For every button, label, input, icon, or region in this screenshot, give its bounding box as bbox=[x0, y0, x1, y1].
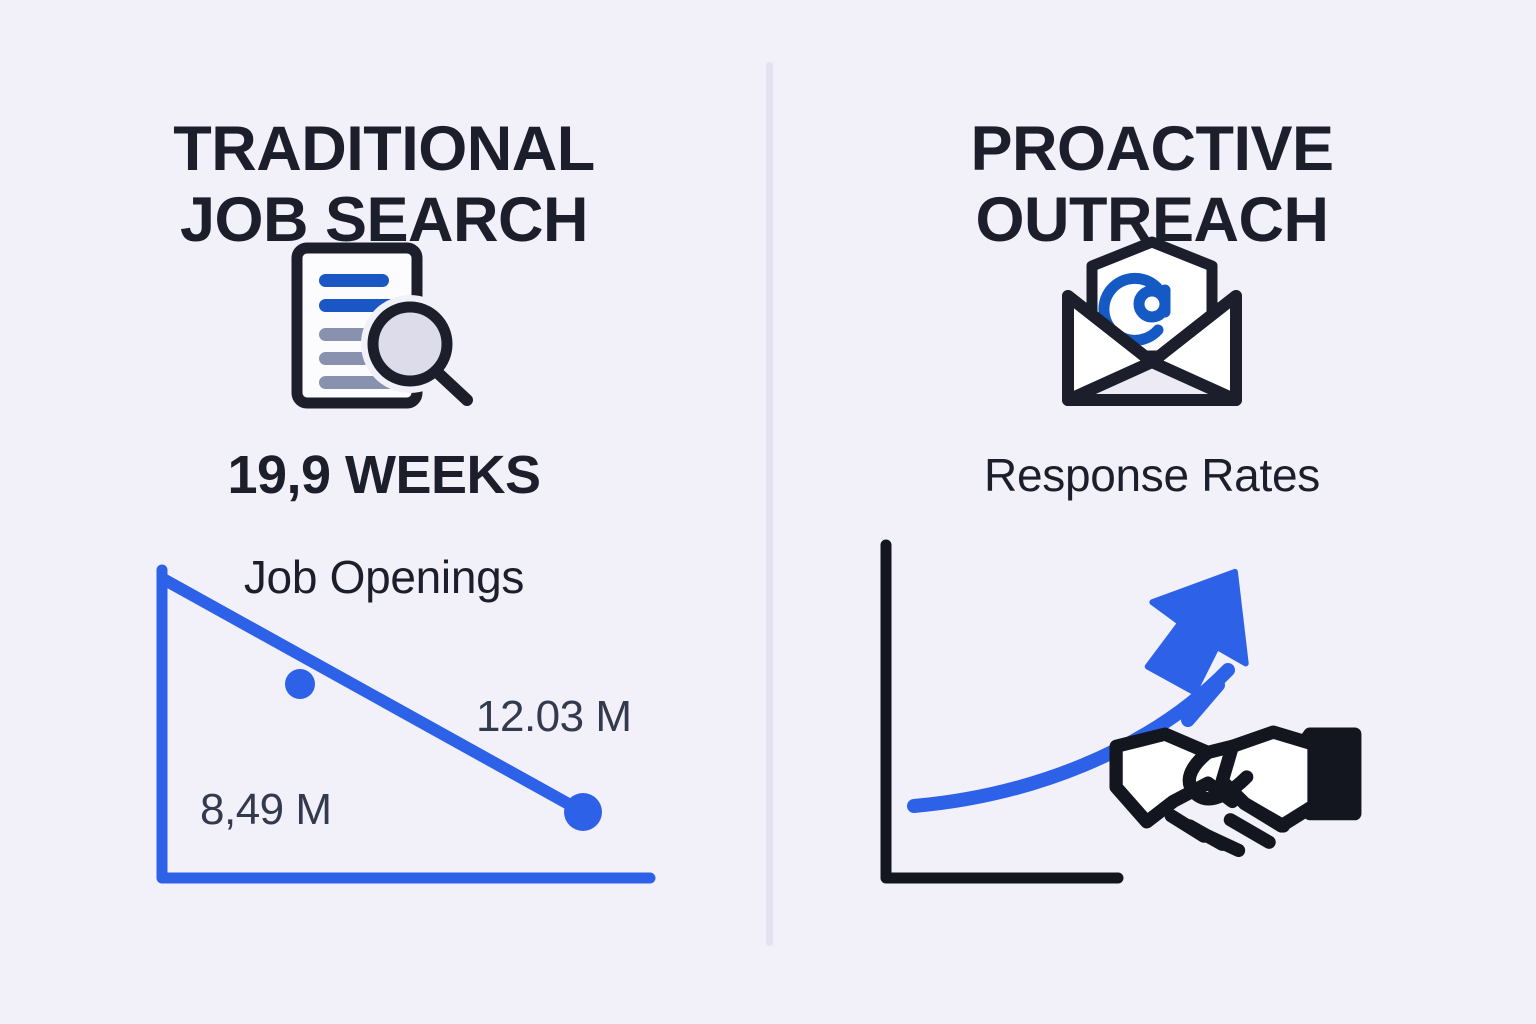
chart-response-rates-growth bbox=[858, 520, 1478, 920]
document-search-icon-wrap bbox=[0, 240, 768, 415]
chart-data-point-mid bbox=[285, 669, 315, 699]
chart-label-end-value: 12.03 M bbox=[476, 692, 631, 742]
chart-caption-response-rates: Response Rates bbox=[768, 448, 1536, 502]
handshake-icon bbox=[1116, 732, 1355, 850]
panel-proactive-outreach: PROACTIVE OUTREACH bbox=[768, 0, 1536, 1024]
document-search-icon bbox=[279, 240, 489, 415]
page-title-left: TRADITIONAL JOB SEARCH bbox=[0, 114, 768, 255]
email-envelope-icon bbox=[1052, 236, 1252, 416]
chart-data-point-end bbox=[564, 793, 602, 831]
page-title-right: PROACTIVE OUTREACH bbox=[768, 114, 1536, 255]
chart-axis-right bbox=[886, 545, 1118, 878]
email-envelope-icon-wrap bbox=[768, 236, 1536, 416]
chart-job-openings-decline: 8,49 M 12.03 M bbox=[120, 520, 720, 920]
panel-traditional-job-search: TRADITIONAL JOB SEARCH bbox=[0, 0, 768, 1024]
stat-value-weeks: 19,9 WEEKS bbox=[0, 444, 768, 506]
chart-label-start-value: 8,49 M bbox=[200, 785, 332, 835]
infographic-root: TRADITIONAL JOB SEARCH bbox=[0, 0, 1536, 1024]
